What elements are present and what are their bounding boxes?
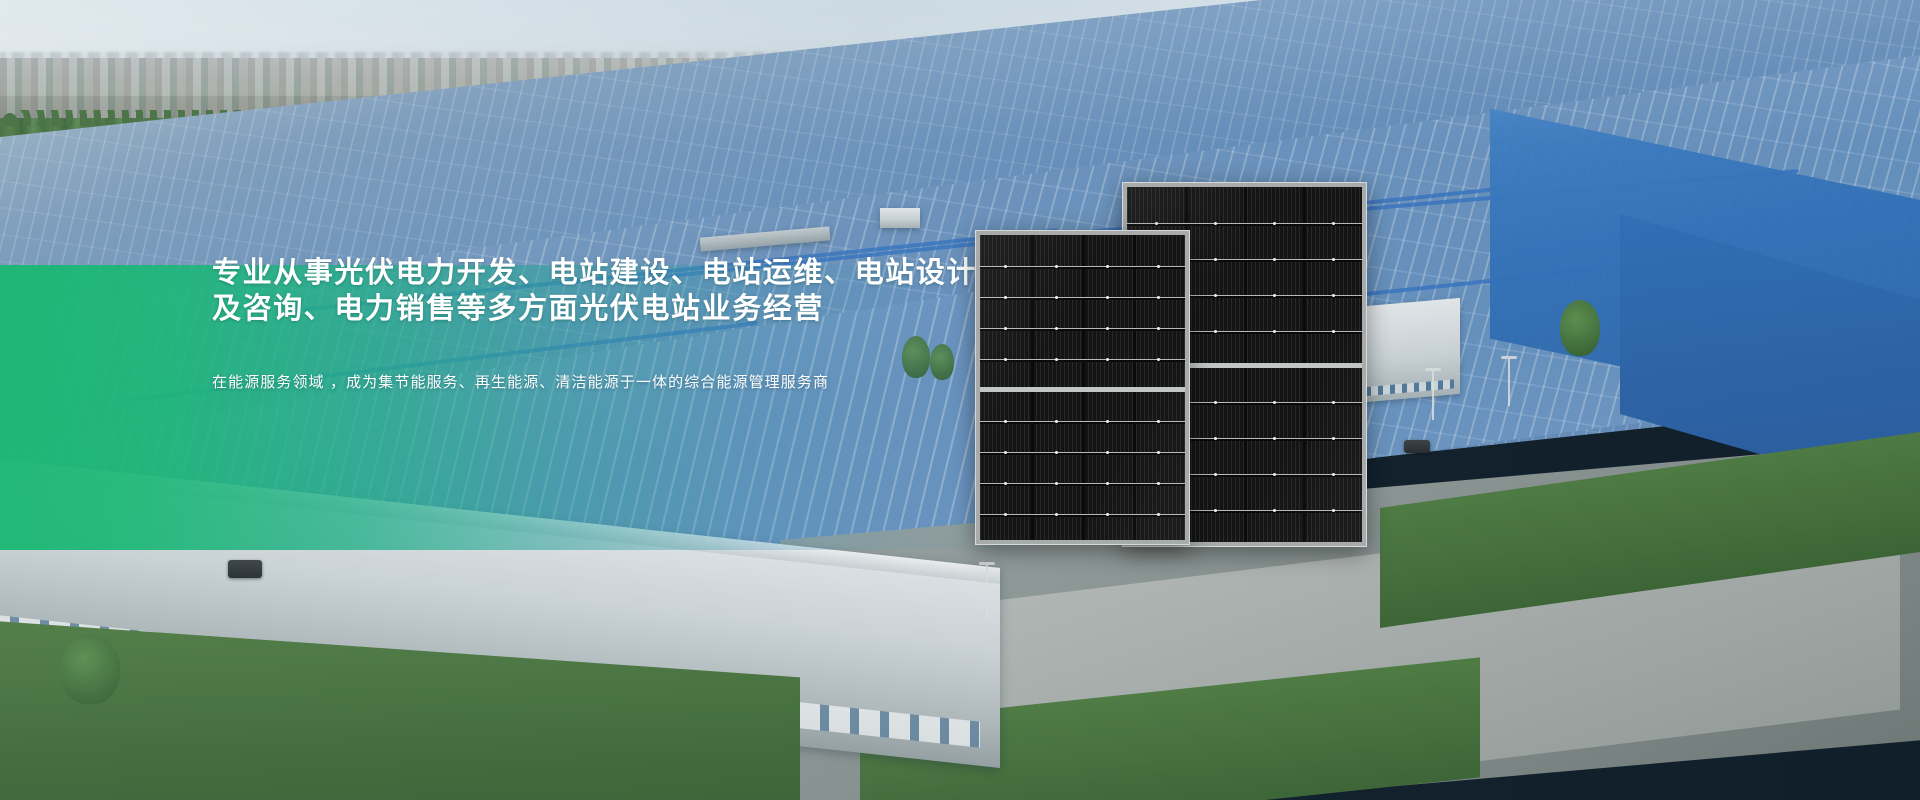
light-pole [1432,368,1434,420]
light-pole [1508,356,1510,406]
banner-stage: 专业从事光伏电力开发、电站建设、电站运维、电站设计 及咨询、电力销售等多方面光伏… [0,0,1920,800]
solar-panel-front-image [975,230,1190,545]
light-pole [986,562,988,618]
roof-equipment-block [880,208,920,228]
module-center-bar [980,387,1185,392]
tree [1560,300,1600,356]
tree [60,634,120,704]
solar-panel-front-cells [980,235,1185,540]
parked-vehicle [228,560,262,578]
parked-vehicle [1404,440,1430,453]
